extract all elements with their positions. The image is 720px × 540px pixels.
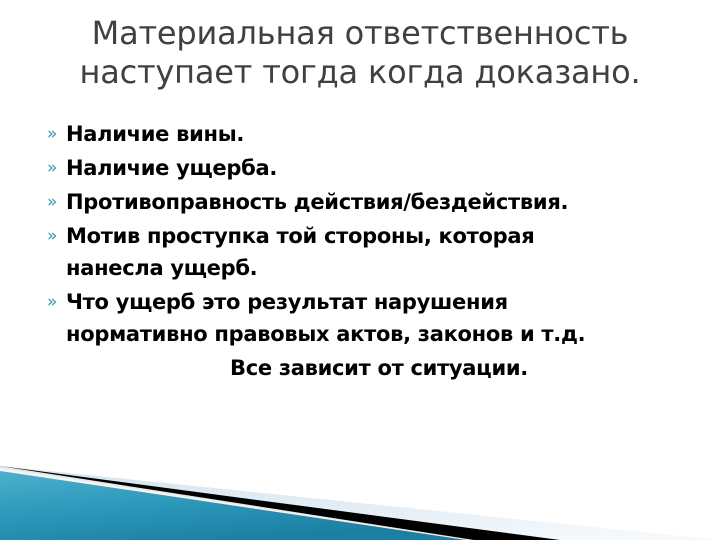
slide-canvas: Материальная ответственность наступает т… — [0, 0, 720, 540]
list-item-label: Что ущерб это результат нарушения нормат… — [66, 286, 692, 350]
chevron-bullet-icon: » — [44, 152, 66, 184]
teal-wedge — [0, 468, 470, 540]
chevron-bullet-icon: » — [44, 220, 66, 252]
list-item-label: Мотив проступка той стороны, которая нан… — [66, 220, 692, 284]
closing-statement: Все зависит от ситуации. — [44, 352, 692, 384]
black-diagonal-stripe — [0, 466, 560, 540]
bullet-list: » Наличие вины. » Наличие ущерба. » Прот… — [44, 118, 692, 384]
chevron-bullet-icon: » — [44, 286, 66, 318]
list-item-label: Наличие вины. — [66, 118, 692, 150]
pale-blue-wedge — [0, 466, 720, 540]
list-item-label: Противоправность действия/бездействия. — [66, 186, 692, 218]
decorative-corner-graphic — [0, 430, 720, 540]
list-item-line-2: нормативно правовых актов, законов и т.д… — [66, 318, 692, 350]
white-highlight-line — [0, 466, 474, 540]
list-item-line-1: Мотив проступка той стороны, которая — [66, 224, 534, 248]
list-item-label: Наличие ущерба. — [66, 152, 692, 184]
chevron-bullet-icon: » — [44, 186, 66, 218]
list-item: » Мотив проступка той стороны, которая н… — [44, 220, 692, 284]
list-item: » Противоправность действия/бездействия. — [44, 186, 692, 218]
list-item-line-1: Что ущерб это результат нарушения — [66, 290, 508, 314]
title-line-1: Материальная ответственность — [28, 14, 692, 53]
list-item: » Наличие ущерба. — [44, 152, 692, 184]
title-line-2: наступает тогда когда доказано. — [28, 53, 692, 92]
list-item-line-2: нанесла ущерб. — [66, 252, 692, 284]
chevron-bullet-icon: » — [44, 118, 66, 150]
page-title: Материальная ответственность наступает т… — [28, 14, 692, 92]
list-item: » Что ущерб это результат нарушения норм… — [44, 286, 692, 350]
list-item: » Наличие вины. — [44, 118, 692, 150]
